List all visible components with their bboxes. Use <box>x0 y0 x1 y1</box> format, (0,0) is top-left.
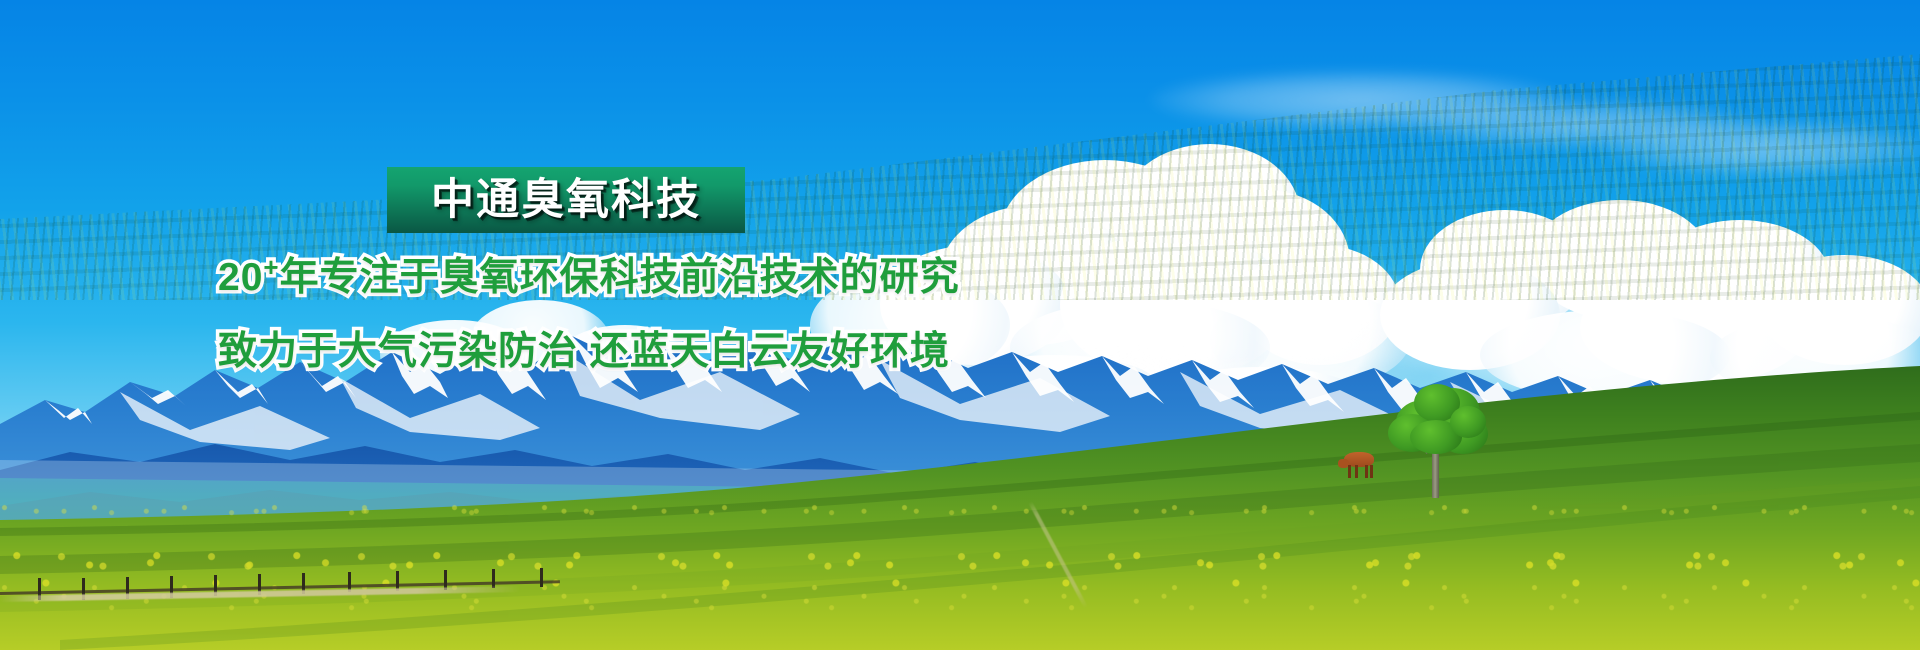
slogan-plus-sup: + <box>263 252 279 282</box>
brand-title-plate: 中通臭氧科技 <box>387 167 745 233</box>
slogan-line-1-rest: 年专注于臭氧环保科技前沿技术的研究 <box>280 256 960 299</box>
brand-title: 中通臭氧科技 <box>431 179 701 222</box>
banner-text-block: 中通臭氧科技 20+年专注于臭氧环保科技前沿技术的研究 致力于大气污染防治 还蓝… <box>0 0 1920 650</box>
slogan-line-2: 致力于大气污染防治 还蓝天白云友好环境 <box>218 332 950 371</box>
slogan-line-1: 20+年专注于臭氧环保科技前沿技术的研究 <box>218 258 960 297</box>
hero-banner: 中通臭氧科技 20+年专注于臭氧环保科技前沿技术的研究 致力于大气污染防治 还蓝… <box>0 0 1920 650</box>
slogan-years-number: 20 <box>218 256 263 299</box>
